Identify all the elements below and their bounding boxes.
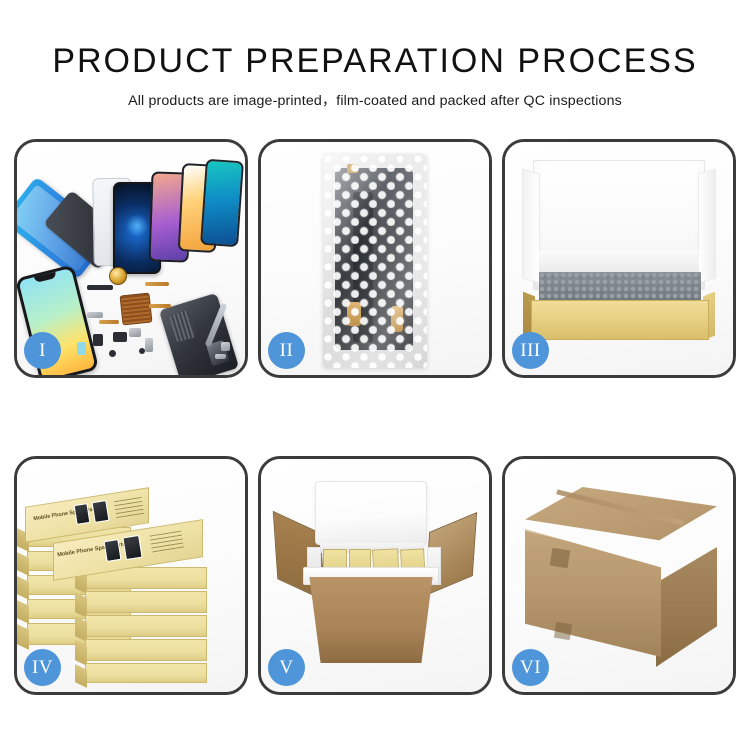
box-side	[17, 624, 29, 650]
box-side	[75, 664, 87, 688]
step-badge-2: II	[268, 332, 305, 369]
stacked-box	[85, 639, 207, 661]
earpiece-speaker	[87, 285, 113, 290]
box-side	[17, 552, 29, 576]
shipping-carton-body	[301, 577, 441, 663]
sealed-carton	[525, 487, 717, 659]
grey-foam-padding	[539, 272, 701, 302]
stacked-box	[85, 591, 207, 613]
box-side	[17, 576, 29, 600]
product-preparation-infographic: PRODUCT PREPARATION PROCESS All products…	[0, 0, 750, 750]
plastic-sheen	[323, 154, 427, 368]
carton-side-face	[656, 547, 717, 667]
box-phone-image	[74, 503, 91, 525]
vibration-motor	[109, 267, 127, 285]
carton-front-face	[525, 529, 661, 657]
process-step-6: VI	[502, 456, 736, 695]
process-step-3: III	[502, 139, 736, 378]
process-step-4: Mobile Phone Spare Parts Mobile Phone Sp…	[14, 456, 248, 695]
camera-module	[113, 332, 127, 342]
sim-tray	[145, 338, 153, 352]
phone-notch	[34, 272, 57, 283]
box-phone-image	[122, 535, 142, 560]
process-step-1: I	[14, 139, 248, 378]
foam-upper-layer	[539, 250, 699, 274]
box-phone-image	[103, 539, 121, 562]
step-badge-5: V	[268, 649, 305, 686]
yellow-box-front	[531, 300, 709, 340]
small-lcd-part	[77, 342, 86, 355]
box-phone-image	[91, 500, 109, 523]
process-step-2: II	[258, 139, 492, 378]
connector-block	[93, 334, 103, 346]
logic-board-chip	[120, 293, 153, 326]
header: PRODUCT PREPARATION PROCESS All products…	[0, 0, 750, 110]
stacked-box	[85, 663, 207, 683]
box-side	[17, 600, 29, 624]
step-badge-6: VI	[512, 649, 549, 686]
page-subtitle: All products are image-printed，film-coat…	[0, 90, 750, 110]
bubble-wrapped-package	[323, 154, 427, 368]
process-step-grid: I II	[14, 139, 736, 695]
phone-display-teal	[200, 159, 244, 247]
page-title: PRODUCT PREPARATION PROCESS	[0, 42, 750, 81]
step-badge-4: IV	[24, 649, 61, 686]
spudger-tip	[221, 342, 230, 351]
flex-cable-3	[99, 320, 119, 324]
carton-tape-lower	[554, 622, 572, 640]
step-badge-1: I	[24, 332, 61, 369]
screw-1	[109, 350, 116, 357]
flex-cable-1	[145, 282, 169, 286]
process-step-5: V	[258, 456, 492, 695]
screwdriver-bit	[215, 354, 226, 359]
carton-tape-upper	[550, 548, 571, 569]
stacked-box	[85, 615, 207, 637]
metal-bracket-2	[129, 328, 141, 337]
foam-box-lid	[315, 481, 427, 545]
flex-cable-2	[149, 304, 171, 308]
step-badge-3: III	[512, 332, 549, 369]
metal-bracket-1	[87, 312, 103, 318]
